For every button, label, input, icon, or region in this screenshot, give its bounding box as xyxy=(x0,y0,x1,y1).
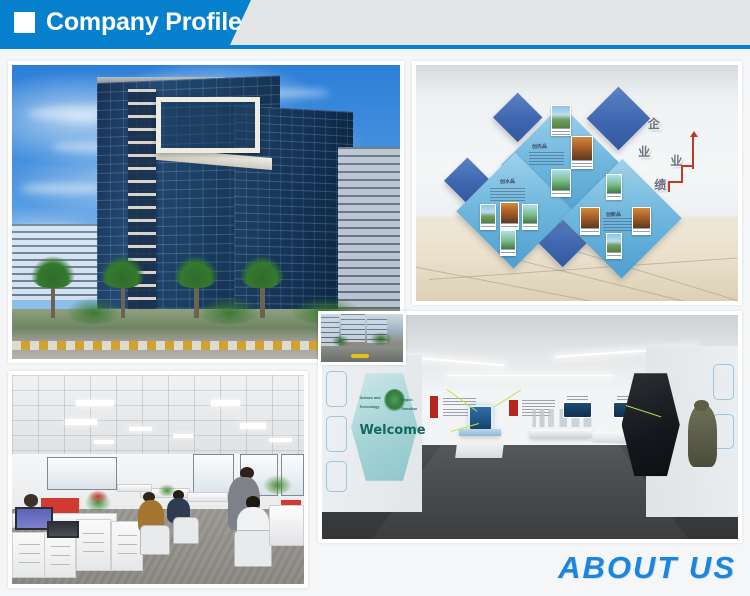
company-logo-mark xyxy=(430,396,438,418)
company-profile-page: Company Profile xyxy=(0,0,750,596)
panel-photo xyxy=(606,233,622,259)
inset-tree xyxy=(370,332,391,344)
panel-photo xyxy=(571,136,594,169)
wall-display-screen xyxy=(563,402,592,418)
storage-cabinet xyxy=(12,532,47,578)
red-growth-arrow-icon xyxy=(661,131,706,192)
section-header-banner: Company Profile xyxy=(0,0,750,50)
logo-line-4: Transition xyxy=(401,407,417,411)
panel-photo xyxy=(551,169,570,197)
shrub xyxy=(198,297,260,323)
panel-text-lines xyxy=(490,188,525,202)
shrub xyxy=(66,297,120,323)
square-bullet-icon xyxy=(14,12,35,33)
glass-partition xyxy=(47,457,117,490)
header-underline-rule xyxy=(0,45,750,49)
employee-head xyxy=(24,494,39,507)
panel-photo xyxy=(522,204,538,230)
header-content: Company Profile xyxy=(0,0,242,45)
logo-line-3: Region xyxy=(401,398,413,402)
ceiling-light xyxy=(94,440,114,444)
panel-photo xyxy=(500,230,516,256)
distant-right-building xyxy=(338,147,400,318)
panel-photo xyxy=(580,207,599,235)
workstation-desk xyxy=(269,505,304,547)
panel-photo xyxy=(480,204,496,230)
photo-achievement-wall: 创先品 创水品 创新品 企 业 业 绩 xyxy=(416,65,738,301)
photo-card-achievement-wall[interactable]: 创先品 创水品 创新品 企 业 业 绩 xyxy=(412,61,742,305)
laptop xyxy=(47,521,79,538)
kiosk-display-screen xyxy=(468,405,493,432)
photo-open-office xyxy=(12,375,304,584)
logo-line-2: Technology xyxy=(359,405,379,409)
display-shelf xyxy=(530,429,592,438)
workstation-desk xyxy=(117,484,152,492)
ceiling-light xyxy=(129,427,152,431)
ceiling-light xyxy=(240,423,266,429)
panel-photo xyxy=(632,207,651,235)
ceiling-light xyxy=(76,400,114,406)
secondary-logo-text xyxy=(522,400,555,407)
panel-heading: 创先品 xyxy=(532,143,547,151)
circuit-decor xyxy=(326,461,347,492)
storage-cabinet xyxy=(44,534,76,578)
ceiling-tile-grid xyxy=(12,375,304,459)
inset-tree xyxy=(332,335,348,346)
about-us-heading: ABOUT US xyxy=(558,550,736,586)
display-caption xyxy=(567,396,588,400)
panel-photo xyxy=(606,174,622,200)
workstation-desk xyxy=(187,492,228,502)
office-ceiling xyxy=(12,375,304,459)
page-title: Company Profile xyxy=(46,10,242,35)
mannequin-figure xyxy=(688,405,717,468)
ceiling-light xyxy=(269,438,292,442)
welcome-heading: Welcome xyxy=(359,423,425,438)
circuit-decor xyxy=(326,371,347,407)
panel-heading: 创水品 xyxy=(500,178,515,186)
wall-character-ye1: 业 xyxy=(638,143,650,160)
ceiling-light xyxy=(211,400,240,406)
panel-photo xyxy=(551,105,570,136)
photo-street-inset xyxy=(321,314,403,362)
office-chair xyxy=(140,525,169,554)
storage-cabinet xyxy=(76,519,111,571)
white-frame-feature xyxy=(156,97,261,153)
office-chair xyxy=(173,517,199,544)
ceiling-light xyxy=(65,419,97,425)
ceiling-light xyxy=(173,434,193,438)
panel-text-lines xyxy=(529,152,564,166)
wall-character-qi: 企 xyxy=(648,115,660,132)
wall-floor-tiles xyxy=(416,249,738,301)
secondary-logo-mark xyxy=(509,400,517,416)
circuit-decor xyxy=(713,364,734,400)
circuit-decor xyxy=(326,416,347,452)
inset-vehicle xyxy=(351,354,369,358)
wall-ceiling xyxy=(416,65,738,96)
photo-card-open-office[interactable] xyxy=(8,371,308,588)
logo-line-1: Science and xyxy=(359,396,380,400)
photo-card-street-inset[interactable] xyxy=(318,311,406,365)
office-chair xyxy=(234,530,272,568)
panel-photo xyxy=(500,202,519,230)
cove-light-strip xyxy=(447,375,613,376)
interactive-kiosk-base xyxy=(455,434,505,459)
kiosk-touch-surface xyxy=(459,429,501,436)
